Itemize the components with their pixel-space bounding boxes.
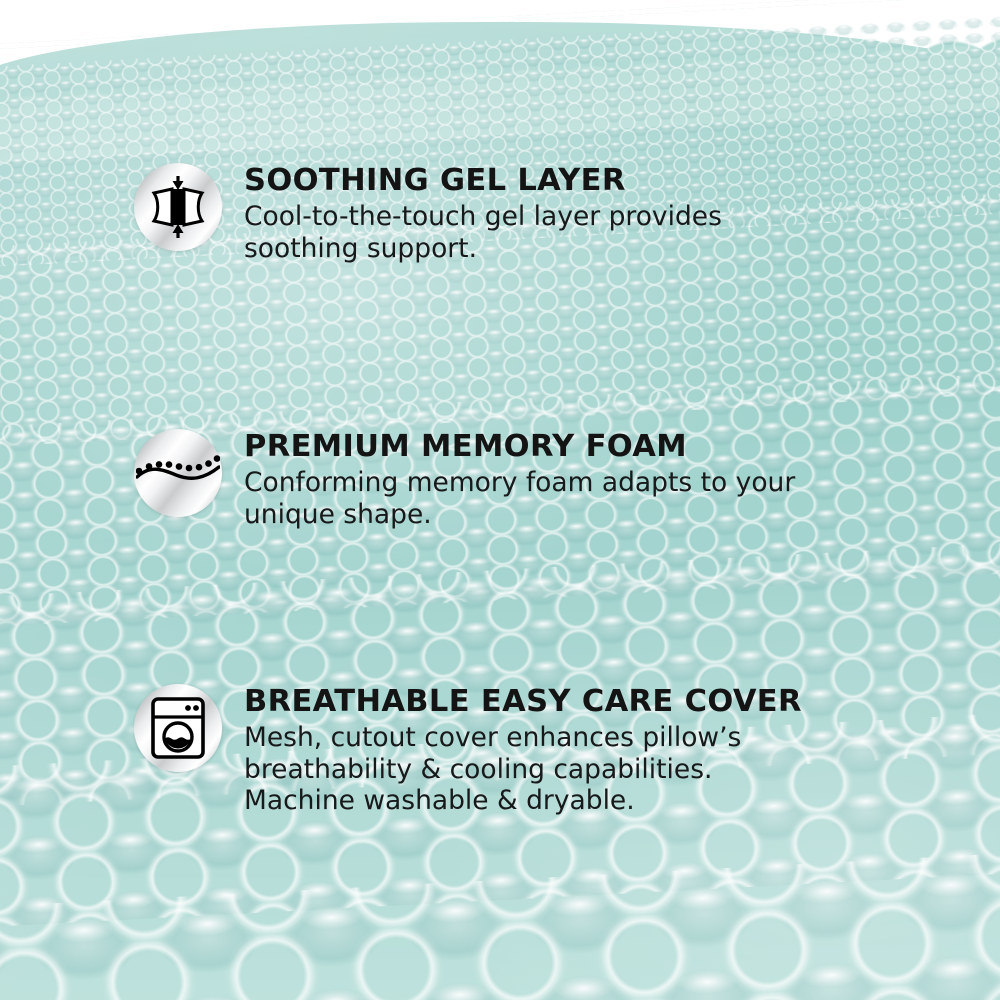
feature-description: Cool-to-the-touch gel layer provides soo…: [244, 201, 722, 265]
feature-item-breathable-easy-care-cover: BREATHABLE EASY CARE COVER Mesh, cutout …: [134, 684, 802, 817]
feature-text-block: SOOTHING GEL LAYER Cool-to-the-touch gel…: [244, 163, 722, 264]
feature-item-premium-memory-foam: PREMIUM MEMORY FOAM Conforming memory fo…: [134, 429, 795, 530]
feature-description: Conforming memory foam adapts to your un…: [244, 467, 795, 531]
memory-foam-contour-icon: [134, 429, 222, 517]
washing-machine-icon: [134, 684, 222, 772]
compression-layer-icon: [134, 163, 222, 251]
feature-title: SOOTHING GEL LAYER: [244, 165, 722, 197]
feature-text-block: PREMIUM MEMORY FOAM Conforming memory fo…: [244, 429, 795, 530]
feature-item-soothing-gel-layer: SOOTHING GEL LAYER Cool-to-the-touch gel…: [134, 163, 722, 264]
product-feature-card: SOOTHING GEL LAYER Cool-to-the-touch gel…: [0, 0, 1000, 1000]
feature-list: SOOTHING GEL LAYER Cool-to-the-touch gel…: [0, 0, 1000, 1000]
feature-title: BREATHABLE EASY CARE COVER: [244, 686, 802, 718]
feature-text-block: BREATHABLE EASY CARE COVER Mesh, cutout …: [244, 684, 802, 817]
feature-title: PREMIUM MEMORY FOAM: [244, 431, 795, 463]
feature-description: Mesh, cutout cover enhances pillow’s bre…: [244, 722, 802, 817]
